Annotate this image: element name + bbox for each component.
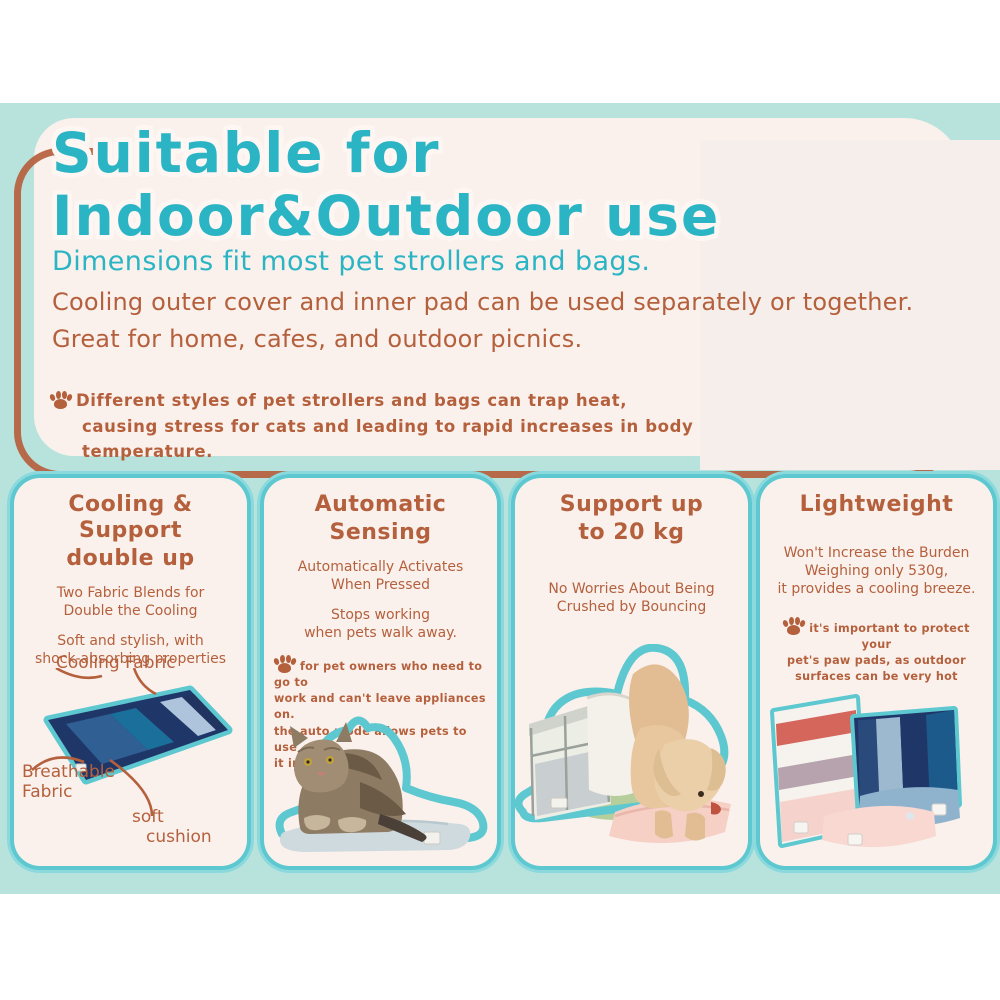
card4-product-photo	[760, 676, 993, 866]
card2-title-line-1: Automatic	[272, 492, 489, 518]
card2-product-photo	[264, 706, 497, 866]
card1-sub-line-2: Double the Cooling	[20, 602, 241, 620]
card3-product-photo	[515, 644, 748, 866]
card1-title-line-1: Cooling & Support	[22, 492, 239, 544]
card1-product-photo	[14, 668, 247, 828]
card4-sub-line-3: it provides a cooling breeze.	[766, 580, 987, 598]
header-body-line-2: Great for home, cafes, and outdoor picni…	[52, 325, 582, 353]
paw-print-icon	[50, 391, 70, 409]
paw-print-icon	[274, 655, 294, 673]
card3-sub-line-1: No Worries About Being	[521, 580, 742, 598]
feature-card-automatic-sensing[interactable]: Automatic Sensing Automatically Activate…	[264, 478, 497, 866]
header-subtitle: Dimensions fit most pet strollers and ba…	[52, 246, 650, 277]
card1-title-line-2: double up	[22, 546, 239, 572]
card4-paw-note-line-1: it's important to protect your	[809, 622, 970, 651]
feature-card-cooling-support[interactable]: Cooling & Support double up Two Fabric B…	[14, 478, 247, 866]
card4-sub-line-1: Won't Increase the Burden	[766, 544, 987, 562]
card2-sub-line-3: Stops working	[270, 606, 491, 624]
card4-pads-illustration	[760, 676, 993, 866]
annotation-breathable-line-1: Breathable	[22, 762, 115, 782]
card4-sub-line-2: Weighing only 530g,	[766, 562, 987, 580]
annotation-soft-cushion: soft cushion	[132, 808, 212, 847]
card4-paw-note-line-2: pet's paw pads, as outdoor	[770, 653, 983, 669]
card2-sub-line-1: Automatically Activates	[270, 558, 491, 576]
feature-card-lightweight[interactable]: Lightweight Won't Increase the Burden We…	[760, 478, 993, 866]
paw-print-icon	[783, 617, 803, 635]
header-title-block: Suitable for Indoor&Outdoor use	[52, 126, 752, 244]
card2-paw-note-line-1: for pet owners who need to go to	[274, 660, 482, 689]
header-paw-note: Different styles of pet strollers and ba…	[50, 388, 790, 465]
card1-sub-line-1: Two Fabric Blends for	[20, 584, 241, 602]
infographic-root: Suitable for Indoor&Outdoor use Dimensio…	[0, 0, 1000, 1000]
card4-title-line-1: Lightweight	[768, 492, 985, 518]
card3-dog-illustration	[515, 644, 748, 866]
card2-cat-illustration	[264, 706, 497, 866]
card2-sub-line-4: when pets walk away.	[270, 624, 491, 642]
card3-title-line-1: Support up	[523, 492, 740, 518]
card1-sub-line-3: Soft and stylish, with	[20, 632, 241, 650]
feature-cards-row: Cooling & Support double up Two Fabric B…	[0, 478, 1000, 878]
annotation-breathable-line-2: Fabric	[22, 782, 73, 802]
header-body-line-1: Cooling outer cover and inner pad can be…	[52, 288, 913, 316]
card2-title-line-2: Sensing	[272, 520, 489, 546]
card2-sub-line-2: When Pressed	[270, 576, 491, 594]
header-paw-note-line-2: causing stress for cats and leading to r…	[82, 414, 790, 465]
header-paw-note-line-1: Different styles of pet strollers and ba…	[76, 388, 627, 414]
annotation-soft-cushion-line-2: cushion	[146, 828, 212, 848]
header-title-line-1: Suitable for	[52, 126, 752, 181]
card3-sub-line-2: Crushed by Bouncing	[521, 598, 742, 616]
card1-mat-illustration	[14, 668, 247, 828]
card3-title-line-2: to 20 kg	[523, 520, 740, 546]
feature-card-support-20kg[interactable]: Support up to 20 kg No Worries About Bei…	[515, 478, 748, 866]
annotation-breathable-fabric: Breathable Fabric	[22, 763, 115, 802]
header-title-line-2: Indoor&Outdoor use	[52, 189, 752, 244]
annotation-soft-cushion-line-1: soft	[132, 807, 164, 827]
